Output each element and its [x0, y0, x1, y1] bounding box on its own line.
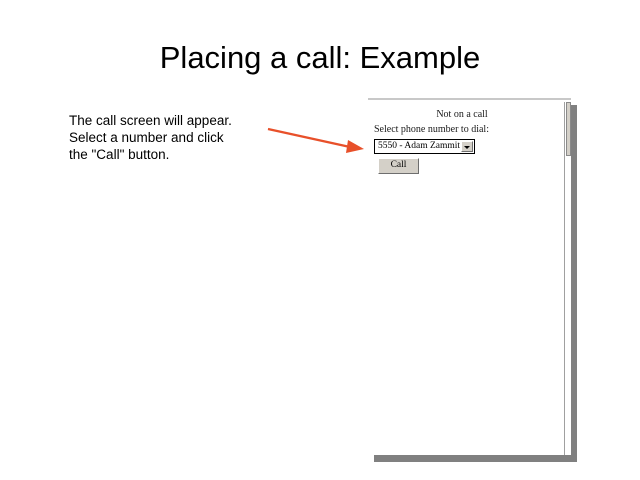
panel-frame: Not on a call Select phone number to dia… [368, 98, 571, 455]
scrollbar-thumb[interactable] [566, 102, 571, 156]
call-button[interactable]: Call [378, 158, 419, 174]
body-text-line: The call screen will appear. [69, 112, 299, 129]
phone-number-select[interactable]: 5550 - Adam Zammit [374, 139, 475, 154]
body-text-line: the "Call" button. [69, 146, 299, 163]
presentation-slide: Placing a call: Example The call screen … [0, 0, 640, 480]
body-text-line: Select a number and click [69, 129, 299, 146]
vertical-scrollbar[interactable] [564, 102, 571, 455]
chevron-down-icon[interactable] [461, 141, 473, 152]
page-title: Placing a call: Example [0, 39, 640, 77]
call-status-text: Not on a call [368, 109, 556, 121]
panel-content-area: Not on a call Select phone number to dia… [368, 102, 564, 455]
caret-glyph [464, 146, 470, 149]
body-text-block: The call screen will appear. Select a nu… [69, 112, 299, 163]
call-screen-screenshot: Not on a call Select phone number to dia… [368, 98, 571, 455]
dial-number-label: Select phone number to dial: [374, 124, 564, 136]
phone-number-selected-value: 5550 - Adam Zammit [378, 141, 460, 152]
